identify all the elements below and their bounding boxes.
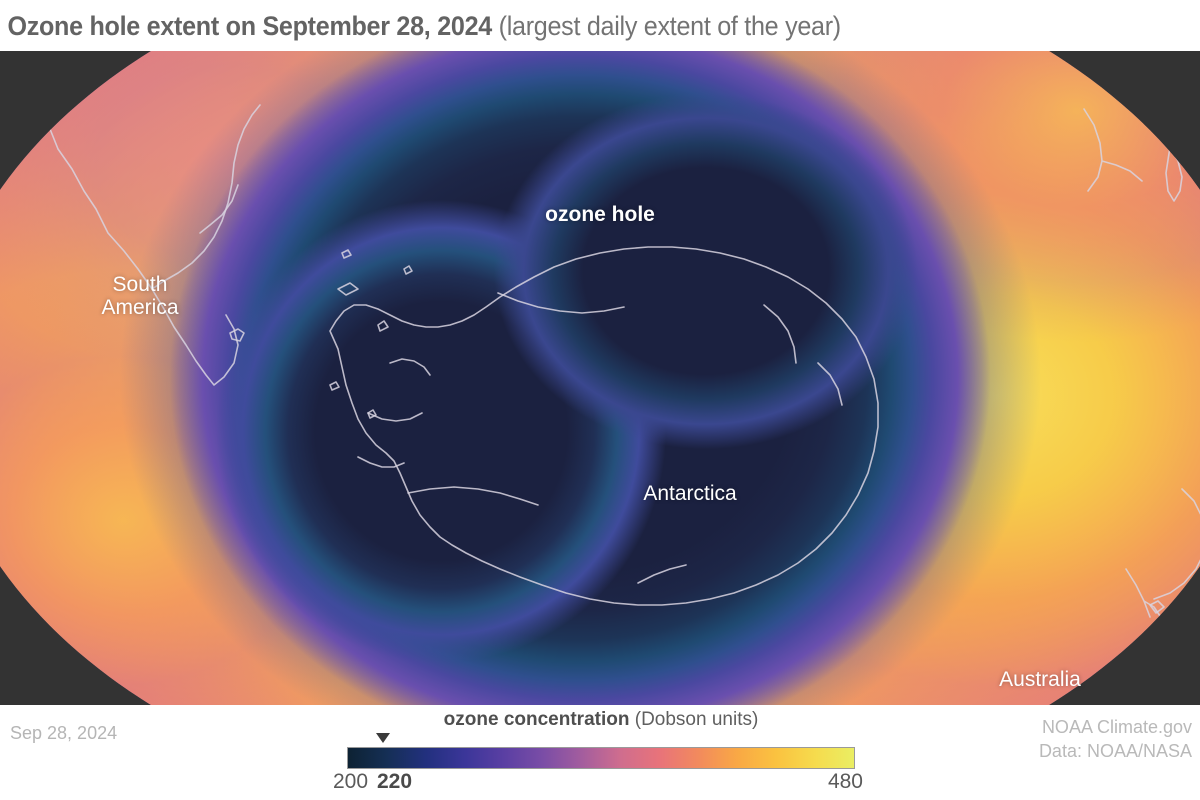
coastline-madagascar: [1166, 147, 1182, 201]
coastline-interior-detail-3: [358, 457, 404, 467]
footer-date-label: Sep 28, 2024: [10, 723, 117, 744]
coastline-ronne-ice-shelf: [498, 293, 624, 313]
coastline-speck-1: [342, 250, 351, 258]
coastline-sandwich: [378, 321, 388, 331]
coastline-interior-detail-2: [390, 359, 430, 375]
colorbar-title-bold: ozone concentration: [444, 709, 630, 730]
colorbar-min-label: 200: [333, 770, 368, 794]
credit-organization: NOAA Climate.gov: [1042, 717, 1192, 738]
coastline-antarctic-peninsula: [330, 247, 878, 605]
footer-bar: Sep 28, 2024 ozone concentration (Dobson…: [0, 705, 1200, 800]
map-panel: ozone hole South America Antarctica Aust…: [0, 51, 1200, 705]
colorbar-max-label: 480: [828, 770, 863, 794]
coastline-south-america: [26, 83, 260, 385]
colorbar-tick-labels: 200 220 480: [347, 770, 855, 800]
coastline-interior-detail-4: [764, 305, 796, 363]
colorbar-title-units: (Dobson units): [635, 709, 759, 730]
page-title-main: Ozone hole extent on September 28, 2024: [7, 11, 492, 41]
coastline-overlay: [0, 51, 1200, 705]
page-title: Ozone hole extent on September 28, 2024 …: [0, 11, 841, 41]
coastline-speck-2: [404, 266, 412, 274]
coastline-africa-south: [1084, 109, 1142, 191]
globe-disc: [0, 51, 1200, 705]
colorbar-threshold-marker-icon: [376, 733, 390, 743]
coastline-speck-3: [330, 382, 339, 390]
page-title-parenthetical: (largest daily extent of the year): [499, 11, 841, 41]
colorbar-title: ozone concentration (Dobson units): [347, 709, 855, 731]
colorbar-legend: ozone concentration (Dobson units) 200 2…: [347, 709, 855, 800]
colorbar-threshold-label: 220: [377, 770, 412, 794]
title-bar: Ozone hole extent on September 28, 2024 …: [0, 0, 1200, 51]
coastline-australia: [1154, 489, 1200, 599]
colorbar-marker-row: [347, 733, 855, 747]
colorbar-gradient: [347, 747, 855, 769]
coastline-interior-detail-6: [638, 565, 686, 583]
coastline-interior-detail-5: [818, 363, 842, 405]
coastline-new-zealand: [1126, 569, 1166, 633]
coastline-ross-ice-shelf: [408, 487, 538, 505]
coastline-south-georgia: [338, 283, 358, 295]
credit-data-source: Data: NOAA/NASA: [1039, 741, 1192, 762]
